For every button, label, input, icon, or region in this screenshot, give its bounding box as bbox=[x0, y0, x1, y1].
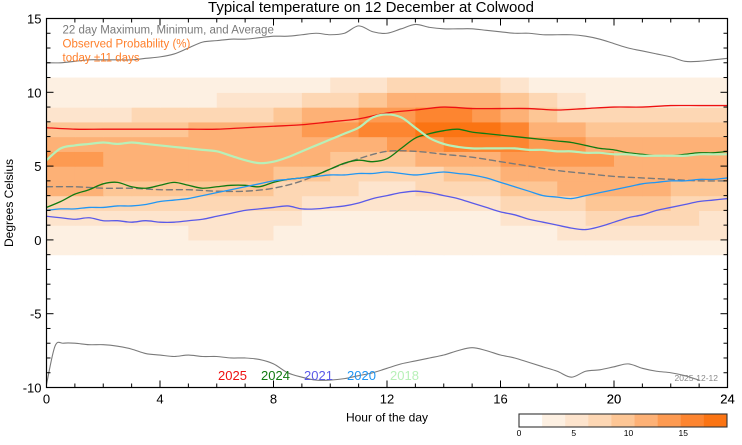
heatmap-cell bbox=[557, 240, 586, 255]
colorbar-swatch bbox=[519, 414, 543, 427]
heatmap-cell bbox=[330, 210, 359, 225]
heatmap-cell bbox=[472, 92, 501, 107]
datestamp: 2025-12-12 bbox=[675, 373, 719, 383]
heatmap-cell bbox=[699, 210, 728, 225]
heatmap-cell bbox=[302, 78, 331, 93]
heatmap-cell bbox=[472, 107, 501, 122]
heatmap-cell bbox=[302, 151, 331, 166]
heatmap-cell bbox=[47, 181, 76, 196]
heatmap-cell bbox=[330, 240, 359, 255]
heatmap-cell bbox=[132, 196, 161, 211]
heatmap-cell bbox=[217, 181, 246, 196]
heatmap-cell bbox=[274, 122, 303, 137]
heatmap-cell bbox=[330, 225, 359, 240]
heatmap-cell bbox=[444, 151, 473, 166]
heatmap-cell bbox=[75, 92, 104, 107]
heatmap-cell bbox=[501, 196, 530, 211]
heatmap-cell bbox=[529, 225, 558, 240]
colorbar-swatch bbox=[681, 414, 705, 427]
heatmap-cell bbox=[75, 78, 104, 93]
heatmap-cell bbox=[387, 225, 416, 240]
heatmap-cell bbox=[103, 196, 132, 211]
heatmap-cell bbox=[557, 181, 586, 196]
heatmap-cell bbox=[671, 78, 700, 93]
heatmap-cell bbox=[415, 225, 444, 240]
annotation-line-1: 22 day Maximum, Minimum, and Average bbox=[63, 25, 274, 37]
x-tick-label: 4 bbox=[156, 392, 163, 407]
heatmap-cell bbox=[614, 225, 643, 240]
colorbar-swatch bbox=[658, 414, 682, 427]
annotations-layer: 22 day Maximum, Minimum, and AverageObse… bbox=[63, 25, 274, 65]
heatmap-cell bbox=[586, 107, 615, 122]
heatmap-cell bbox=[444, 210, 473, 225]
heatmap-cell bbox=[132, 240, 161, 255]
heatmap-cell bbox=[188, 166, 217, 181]
heatmap-cell bbox=[387, 240, 416, 255]
heatmap-cell bbox=[699, 196, 728, 211]
legend-item-2020[interactable]: 2020 bbox=[347, 368, 376, 383]
heatmap-cell bbox=[274, 181, 303, 196]
x-tick-label: 12 bbox=[380, 392, 394, 407]
heatmap-cell bbox=[557, 78, 586, 93]
colorbar-swatch bbox=[611, 414, 635, 427]
heatmap-cell bbox=[217, 107, 246, 122]
heatmap-cell bbox=[47, 225, 76, 240]
legend-item-2021[interactable]: 2021 bbox=[304, 368, 333, 383]
heatmap-cell bbox=[444, 196, 473, 211]
heatmap-cell bbox=[444, 107, 473, 122]
heatmap-cell bbox=[387, 210, 416, 225]
heatmap-cell bbox=[47, 78, 76, 93]
heatmap-cell bbox=[103, 166, 132, 181]
heatmap-cell bbox=[387, 196, 416, 211]
colorbar-swatch bbox=[588, 414, 612, 427]
annotation-line-2: Observed Probability (%) bbox=[63, 39, 191, 51]
heatmap-cell bbox=[160, 166, 189, 181]
heatmap-cell bbox=[529, 240, 558, 255]
heatmap-cell bbox=[160, 107, 189, 122]
heatmap-cell bbox=[132, 78, 161, 93]
heatmap-cell bbox=[160, 196, 189, 211]
heatmap-cell bbox=[472, 181, 501, 196]
heatmap-cell bbox=[699, 122, 728, 137]
heatmap-cell bbox=[501, 225, 530, 240]
colorbar-tick-label: 5 bbox=[571, 428, 576, 438]
heatmap-cell bbox=[415, 122, 444, 137]
y-tick-label: -10 bbox=[23, 381, 42, 396]
heatmap-cell bbox=[188, 78, 217, 93]
heatmap-cell bbox=[586, 122, 615, 137]
heatmap-cell bbox=[614, 122, 643, 137]
heatmap-cell bbox=[245, 78, 274, 93]
heatmap-cell bbox=[671, 196, 700, 211]
heatmap-cell bbox=[132, 166, 161, 181]
legend-item-2018[interactable]: 2018 bbox=[390, 368, 419, 383]
heatmap-cell bbox=[302, 225, 331, 240]
heatmap-cell bbox=[642, 240, 671, 255]
heatmap-cell bbox=[359, 181, 388, 196]
heatmap-cell bbox=[160, 78, 189, 93]
heatmap-layer bbox=[47, 78, 729, 256]
heatmap-cell bbox=[586, 78, 615, 93]
heatmap-cell bbox=[529, 181, 558, 196]
heatmap-cell bbox=[586, 196, 615, 211]
heatmap-cell bbox=[642, 166, 671, 181]
legend-item-2024[interactable]: 2024 bbox=[261, 368, 290, 383]
heatmap-cell bbox=[217, 240, 246, 255]
heatmap-cell bbox=[586, 181, 615, 196]
heatmap-cell bbox=[586, 225, 615, 240]
heatmap-cell bbox=[699, 240, 728, 255]
heatmap-cell bbox=[245, 166, 274, 181]
heatmap-cell bbox=[501, 78, 530, 93]
heatmap-cell bbox=[671, 225, 700, 240]
heatmap-cell bbox=[274, 210, 303, 225]
y-tick-label: 5 bbox=[34, 159, 41, 174]
heatmap-cell bbox=[160, 92, 189, 107]
heatmap-cell bbox=[444, 240, 473, 255]
heatmap-cell bbox=[444, 225, 473, 240]
heatmap-cell bbox=[160, 240, 189, 255]
heatmap-cell bbox=[444, 181, 473, 196]
legend-item-2025[interactable]: 2025 bbox=[218, 368, 247, 383]
x-tick-label-24: 24 bbox=[720, 392, 734, 407]
heatmap-cell bbox=[160, 181, 189, 196]
heatmap-cell bbox=[188, 151, 217, 166]
heatmap-cell bbox=[274, 225, 303, 240]
heatmap-cell bbox=[501, 166, 530, 181]
legend: 20252024202120202018 bbox=[218, 368, 419, 383]
heatmap-cell bbox=[132, 107, 161, 122]
x-tick-label: 16 bbox=[493, 392, 507, 407]
heatmap-cell bbox=[671, 181, 700, 196]
heatmap-cell bbox=[160, 151, 189, 166]
heatmap-cell bbox=[614, 78, 643, 93]
colorbar-swatch bbox=[565, 414, 589, 427]
heatmap-cell bbox=[245, 225, 274, 240]
x-tick-label: 0 bbox=[43, 392, 50, 407]
heatmap-cell bbox=[359, 210, 388, 225]
heatmap-cell bbox=[75, 107, 104, 122]
heatmap-cell bbox=[529, 122, 558, 137]
heatmap-cell bbox=[330, 151, 359, 166]
heatmap-cell bbox=[501, 92, 530, 107]
heatmap-cell bbox=[586, 240, 615, 255]
heatmap-cell bbox=[557, 210, 586, 225]
heatmap-cell bbox=[642, 151, 671, 166]
heatmap-cell bbox=[501, 107, 530, 122]
heatmap-cell bbox=[359, 240, 388, 255]
heatmap-cell bbox=[699, 78, 728, 93]
heatmap-cell bbox=[614, 137, 643, 152]
heatmap-cell bbox=[103, 225, 132, 240]
heatmap-cell bbox=[245, 92, 274, 107]
heatmap-cell bbox=[529, 196, 558, 211]
heatmap-cell bbox=[472, 240, 501, 255]
colorbar-tick-label: 10 bbox=[624, 428, 634, 438]
heatmap-cell bbox=[103, 240, 132, 255]
heatmap-cell bbox=[671, 137, 700, 152]
heatmap-cell bbox=[245, 137, 274, 152]
heatmap-cell bbox=[614, 92, 643, 107]
heatmap-cell bbox=[302, 92, 331, 107]
heatmap-cell bbox=[415, 181, 444, 196]
heatmap-cell bbox=[217, 166, 246, 181]
heatmap-cell bbox=[415, 196, 444, 211]
heatmap-cell bbox=[274, 107, 303, 122]
heatmap-cell bbox=[501, 240, 530, 255]
heatmap-cell bbox=[614, 107, 643, 122]
temperature-chart: 04812162024-10-5051015Hour of the dayDeg… bbox=[0, 0, 742, 445]
heatmap-cell bbox=[415, 92, 444, 107]
heatmap-cell bbox=[472, 137, 501, 152]
heatmap-cell bbox=[47, 107, 76, 122]
colorbar-swatch bbox=[542, 414, 566, 427]
heatmap-cell bbox=[472, 225, 501, 240]
x-tick-label-20: 20 bbox=[607, 392, 621, 407]
heatmap-cell bbox=[274, 92, 303, 107]
heatmap-cell bbox=[274, 240, 303, 255]
heatmap-cell bbox=[671, 122, 700, 137]
heatmap-cell bbox=[472, 196, 501, 211]
heatmap-cell bbox=[75, 166, 104, 181]
heatmap-cell bbox=[415, 210, 444, 225]
heatmap-cell bbox=[75, 240, 104, 255]
heatmap-cell bbox=[359, 92, 388, 107]
colorbar-swatch bbox=[704, 414, 728, 427]
heatmap-cell bbox=[47, 240, 76, 255]
y-tick-label: -5 bbox=[30, 307, 42, 322]
heatmap-cell bbox=[359, 225, 388, 240]
heatmap-cell bbox=[699, 225, 728, 240]
heatmap-cell bbox=[188, 225, 217, 240]
heatmap-cell bbox=[472, 166, 501, 181]
heatmap-cell bbox=[415, 240, 444, 255]
heatmap-cell bbox=[415, 78, 444, 93]
heatmap-cell bbox=[671, 107, 700, 122]
heatmap-cell bbox=[387, 137, 416, 152]
heatmap-cell bbox=[387, 92, 416, 107]
heatmap-cell bbox=[699, 137, 728, 152]
heatmap-cell bbox=[557, 122, 586, 137]
heatmap-cell bbox=[302, 181, 331, 196]
y-tick-label: 0 bbox=[34, 233, 41, 248]
heatmap-cell bbox=[302, 107, 331, 122]
heatmap-cell bbox=[160, 225, 189, 240]
colorbar-tick-label: 15 bbox=[678, 428, 688, 438]
heatmap-cell bbox=[188, 210, 217, 225]
heatmap-cell bbox=[274, 78, 303, 93]
heatmap-cell bbox=[586, 92, 615, 107]
heatmap-cell bbox=[330, 78, 359, 93]
y-tick-label: 10 bbox=[27, 85, 41, 100]
x-axis-label: Hour of the day bbox=[346, 411, 428, 425]
heatmap-cell bbox=[359, 78, 388, 93]
heatmap-cell bbox=[302, 240, 331, 255]
heatmap-cell bbox=[47, 137, 76, 152]
heatmap-cell bbox=[642, 122, 671, 137]
heatmap-cell bbox=[217, 78, 246, 93]
heatmap-cell bbox=[217, 196, 246, 211]
heatmap-cell bbox=[188, 92, 217, 107]
colorbar-tick-label: 0 bbox=[517, 428, 522, 438]
heatmap-cell bbox=[75, 225, 104, 240]
heatmap-cell bbox=[330, 92, 359, 107]
chart-root: Typical temperature on 12 December at Co… bbox=[0, 0, 742, 445]
heatmap-cell bbox=[47, 166, 76, 181]
heatmap-cell bbox=[557, 151, 586, 166]
heatmap-cell bbox=[217, 137, 246, 152]
heatmap-cell bbox=[614, 166, 643, 181]
heatmap-cell bbox=[188, 240, 217, 255]
heatmap-cell bbox=[642, 78, 671, 93]
heatmap-cell bbox=[444, 92, 473, 107]
heatmap-cell bbox=[245, 240, 274, 255]
heatmap-cell bbox=[160, 137, 189, 152]
heatmap-cell bbox=[359, 137, 388, 152]
heatmap-cell bbox=[699, 181, 728, 196]
heatmap-cell bbox=[75, 151, 104, 166]
heatmap-cell bbox=[387, 181, 416, 196]
heatmap-cell bbox=[529, 210, 558, 225]
heatmap-cell bbox=[529, 92, 558, 107]
heatmap-cell bbox=[274, 137, 303, 152]
heatmap-cell bbox=[132, 151, 161, 166]
heatmap-cell bbox=[103, 107, 132, 122]
heatmap-cell bbox=[472, 78, 501, 93]
heatmap-cell bbox=[642, 225, 671, 240]
heatmap-cell bbox=[132, 92, 161, 107]
heatmap-cell bbox=[132, 225, 161, 240]
heatmap-cell bbox=[557, 92, 586, 107]
heatmap-cell bbox=[188, 107, 217, 122]
heatmap-cell bbox=[529, 78, 558, 93]
heatmap-cell bbox=[160, 210, 189, 225]
heatmap-cell bbox=[217, 92, 246, 107]
heatmap-cell bbox=[557, 225, 586, 240]
y-axis-label: Degrees Celsius bbox=[2, 159, 16, 247]
heatmap-cell bbox=[132, 210, 161, 225]
heatmap-cell bbox=[699, 107, 728, 122]
heatmap-cell bbox=[387, 78, 416, 93]
heatmap-cell bbox=[245, 107, 274, 122]
heatmap-cell bbox=[245, 151, 274, 166]
heatmap-cell bbox=[103, 210, 132, 225]
heatmap-cell bbox=[642, 137, 671, 152]
heatmap-cell bbox=[501, 122, 530, 137]
heatmap-cell bbox=[671, 210, 700, 225]
heatmap-cell bbox=[330, 181, 359, 196]
heatmap-cell bbox=[642, 107, 671, 122]
heatmap-cell bbox=[103, 92, 132, 107]
heatmap-cell bbox=[103, 151, 132, 166]
heatmap-cell bbox=[103, 78, 132, 93]
heatmap-cell bbox=[529, 151, 558, 166]
heatmap-cell bbox=[642, 210, 671, 225]
heatmap-cell bbox=[217, 225, 246, 240]
colorbar: 0510152024 bbox=[517, 392, 735, 439]
heatmap-cell bbox=[614, 240, 643, 255]
heatmap-cell bbox=[472, 151, 501, 166]
heatmap-cell bbox=[387, 151, 416, 166]
heatmap-cell bbox=[472, 210, 501, 225]
heatmap-cell bbox=[245, 122, 274, 137]
heatmap-cell bbox=[47, 92, 76, 107]
annotation-line-3: today ±11 days bbox=[63, 53, 140, 65]
heatmap-cell bbox=[444, 78, 473, 93]
heatmap-cell bbox=[614, 196, 643, 211]
heatmap-cell bbox=[302, 210, 331, 225]
heatmap-cell bbox=[47, 151, 76, 166]
y-tick-label: 15 bbox=[27, 12, 41, 27]
colorbar-swatch bbox=[635, 414, 659, 427]
heatmap-cell bbox=[671, 240, 700, 255]
heatmap-cell bbox=[245, 210, 274, 225]
x-tick-label: 8 bbox=[270, 392, 277, 407]
